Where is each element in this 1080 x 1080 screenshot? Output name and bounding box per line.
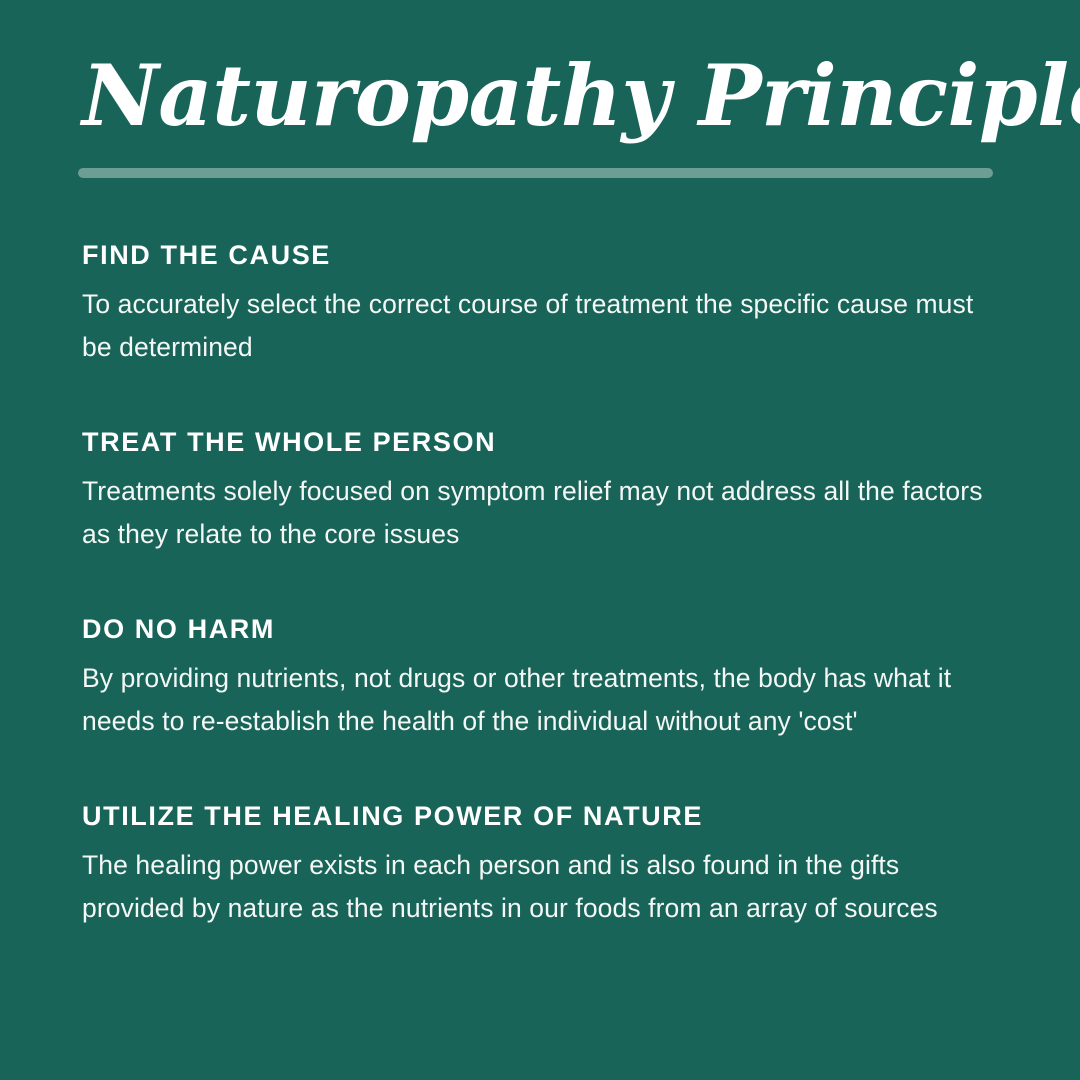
title-divider [78, 168, 993, 178]
principle-body: The healing power exists in each person … [82, 844, 992, 930]
page-title: Naturopathy Principles [82, 52, 998, 140]
principle-heading: UTILIZE THE HEALING POWER OF NATURE [82, 801, 998, 832]
principle-item: UTILIZE THE HEALING POWER OF NATURE The … [82, 801, 998, 930]
principle-heading: TREAT THE WHOLE PERSON [82, 427, 998, 458]
principle-body: To accurately select the correct course … [82, 283, 992, 369]
poster-canvas: Naturopathy Principles FIND THE CAUSE To… [0, 0, 1080, 1080]
principle-item: TREAT THE WHOLE PERSON Treatments solely… [82, 427, 998, 556]
principle-body: By providing nutrients, not drugs or oth… [82, 657, 992, 743]
title-block: Naturopathy Principles [82, 0, 998, 140]
principle-body: Treatments solely focused on symptom rel… [82, 470, 992, 556]
principle-heading: DO NO HARM [82, 614, 998, 645]
principles-list: FIND THE CAUSE To accurately select the … [82, 240, 998, 930]
principle-item: FIND THE CAUSE To accurately select the … [82, 240, 998, 369]
principle-item: DO NO HARM By providing nutrients, not d… [82, 614, 998, 743]
principle-heading: FIND THE CAUSE [82, 240, 998, 271]
divider-wrap [78, 168, 998, 178]
